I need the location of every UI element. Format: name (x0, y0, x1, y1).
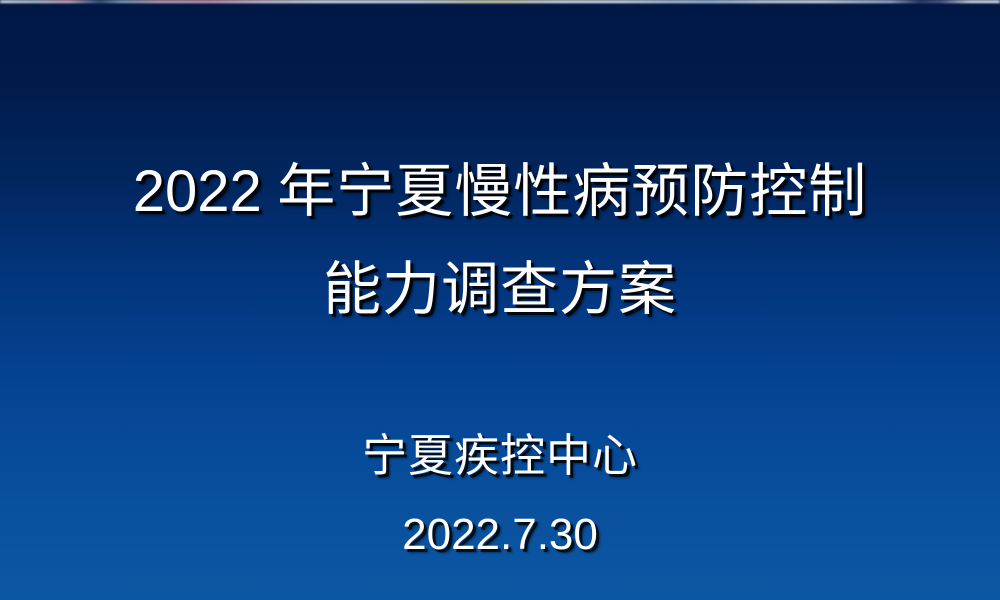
organization-name: 宁夏疾控中心 (0, 428, 1000, 484)
title-line-2-text: 能力调查方案 (323, 257, 677, 322)
top-edge-image-artifact (0, 0, 1000, 5)
title-line-2: 能力调查方案 (0, 241, 1000, 339)
title-line-1: 2022 年宁夏慢性病预防控制 (0, 143, 1000, 241)
title-line-1-text: 年宁夏慢性病预防控制 (262, 159, 868, 224)
title-year: 2022 (133, 159, 262, 224)
presentation-date: 2022.7.30 (0, 508, 1000, 562)
slide-title: 2022 年宁夏慢性病预防控制 能力调查方案 (0, 143, 1000, 339)
slide-date-block: 2022.7.30 (0, 508, 1000, 562)
title-slide: 2022 年宁夏慢性病预防控制 能力调查方案 宁夏疾控中心 2022.7.30 (0, 0, 1000, 600)
artifact-fade-overlay (0, 0, 1000, 5)
slide-subtitle: 宁夏疾控中心 (0, 428, 1000, 484)
